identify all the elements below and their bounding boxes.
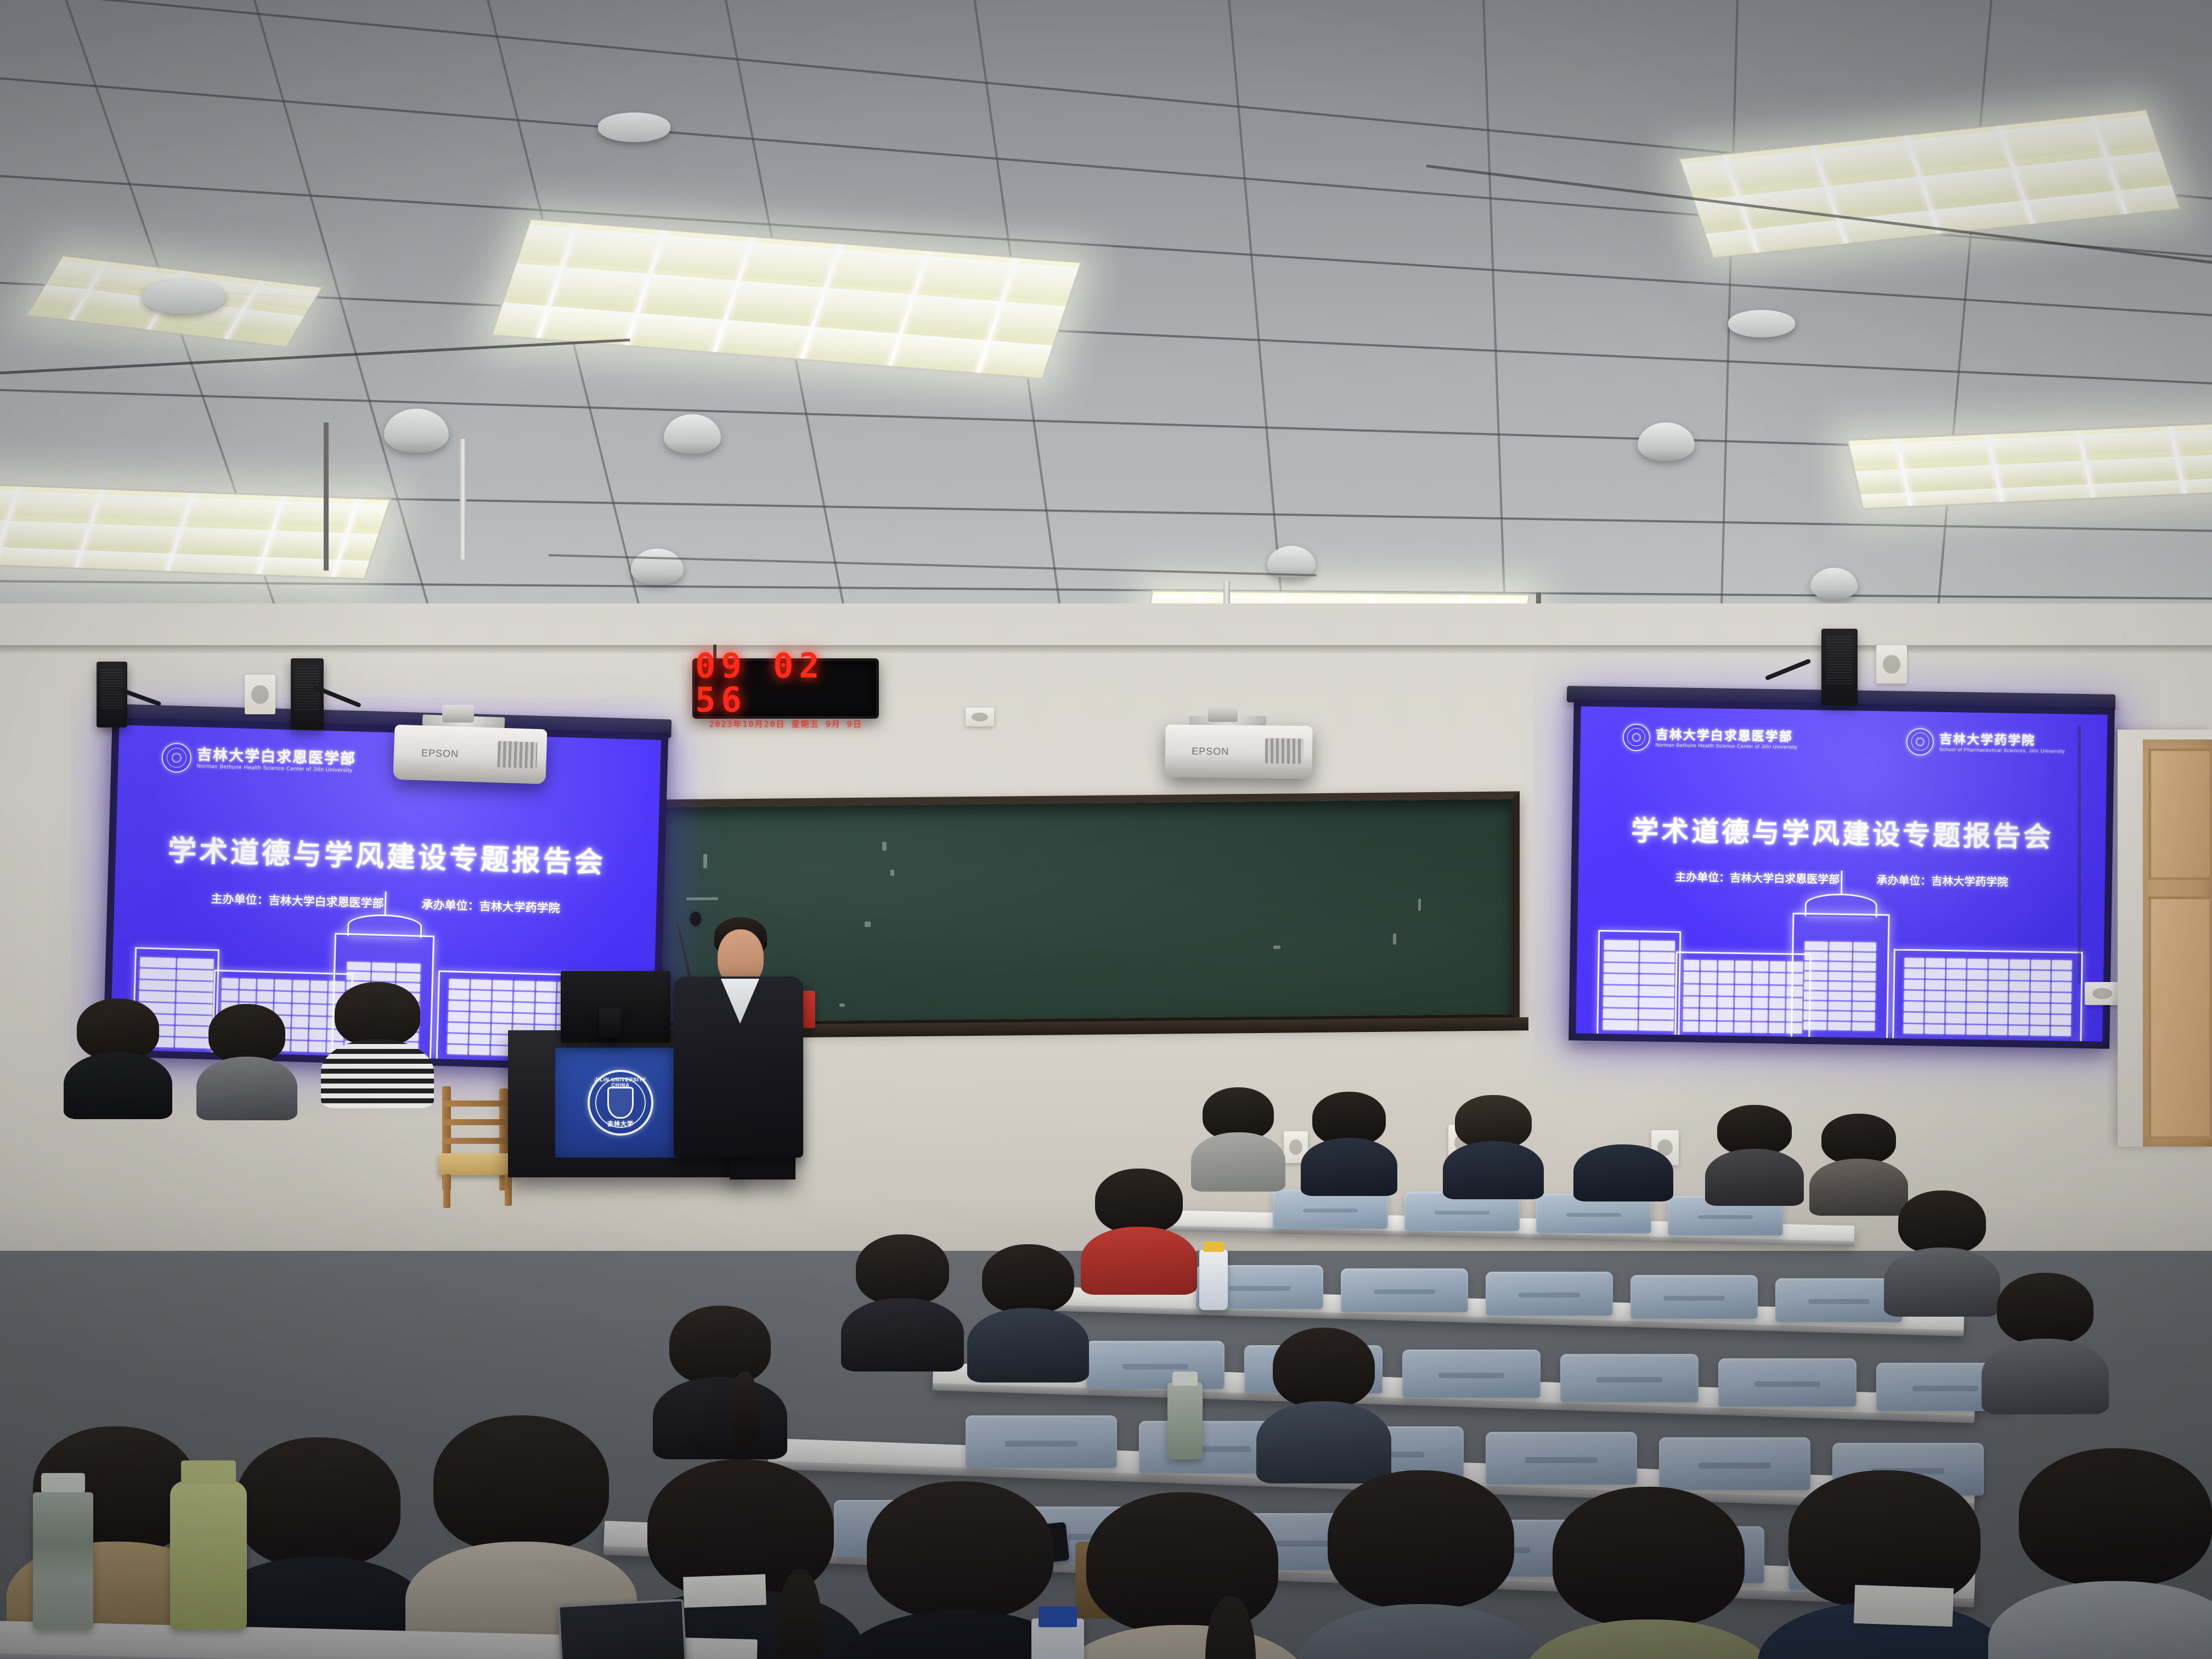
wall-outlet-plate [2085, 982, 2120, 1005]
smoke-detector [1728, 310, 1795, 337]
audience-member [236, 1437, 400, 1659]
slide-organizer: 主办单位：吉林大学白求恩医学部 [211, 890, 384, 911]
head [2019, 1448, 2212, 1585]
shoulders [1298, 1604, 1544, 1659]
jilin-bethune-seal-icon [161, 742, 191, 772]
slide-logo-bethune: 吉林大学白求恩医学部 Norman Bethune Health Science… [161, 742, 356, 777]
shoulders [196, 1057, 298, 1120]
audience-member [1312, 1092, 1386, 1196]
seat[interactable] [966, 1415, 1117, 1468]
audience-member [1095, 1169, 1183, 1295]
slide-logo-cn: 吉林大学药学院 [1939, 732, 2065, 748]
shoulders [1191, 1132, 1285, 1192]
lecture-hall-photo: 吉林大学白求恩医学部 Norman Bethune Health Science… [0, 0, 2212, 1659]
ceiling-speaker [384, 409, 449, 453]
audience-member [1788, 1470, 1980, 1659]
audience-member [1455, 1095, 1532, 1199]
slide-host: 承办单位：吉林大学药学院 [421, 896, 560, 916]
ponytail [730, 1372, 759, 1454]
head [1717, 1105, 1792, 1155]
bottle-cap [41, 1473, 84, 1492]
wall-outlet-plate [1876, 645, 1907, 684]
right-projection-screen[interactable]: 吉林大学白求恩医学部 Norman Bethune Health Science… [1568, 699, 2115, 1048]
water-bottle-blue-cap [1031, 1618, 1084, 1659]
audience-member [1553, 1487, 1745, 1659]
shoulders [1301, 1138, 1398, 1196]
audience-member [335, 982, 420, 1108]
projector-drop-rod [460, 439, 466, 560]
head [1997, 1273, 2093, 1344]
seat[interactable] [1341, 1268, 1468, 1312]
door-panel-upper [2148, 748, 2212, 880]
wall-speaker-right [1821, 629, 1858, 706]
ceiling-speaker [1638, 422, 1695, 461]
head [236, 1437, 400, 1567]
smoke-detector [143, 280, 225, 314]
head [77, 998, 159, 1060]
bottle-cap [1039, 1606, 1076, 1627]
water-bottle-white [1199, 1250, 1228, 1310]
wall-outlet-plate [245, 675, 275, 714]
shoulders [967, 1308, 1089, 1383]
head [1898, 1190, 1986, 1254]
jilin-bethune-seal-icon [1622, 723, 1650, 751]
ceiling-light-fixture [490, 218, 1082, 379]
shoulders [1809, 1159, 1908, 1216]
suspended-ceiling [0, 0, 2212, 675]
projector-bracket-right [1208, 706, 1238, 722]
seat[interactable] [1659, 1437, 1810, 1490]
slide-organizer: 主办单位：吉林大学白求恩医学部 [1675, 868, 1839, 887]
audience-member [77, 998, 159, 1119]
lectern-monitor-stand [599, 1008, 621, 1038]
projector-brand: EPSON [1192, 746, 1229, 758]
shoulders [1522, 1620, 1775, 1659]
slide-title: 学术道德与学风建设专题报告会 [115, 826, 658, 882]
jilin-pharmacy-seal-icon [1906, 728, 1934, 756]
head [335, 982, 420, 1046]
ceiling-speaker [631, 549, 684, 585]
audience-member [856, 1234, 949, 1372]
head [982, 1244, 1074, 1313]
audience-member [1717, 1105, 1792, 1206]
shoulders [1705, 1149, 1804, 1206]
projector-bracket-left [442, 705, 474, 723]
audience-member [1585, 1099, 1661, 1201]
audience-member [1898, 1190, 1986, 1317]
led-wall-clock: 09 02 56 2023年10月20日 星期五 9月 9日 [692, 658, 879, 719]
audience-member [208, 1004, 285, 1120]
slide-surface: 吉林大学白求恩医学部 Norman Bethune Health Science… [1576, 706, 2107, 1041]
thermos-tumbler [1167, 1383, 1203, 1459]
audience-member [1086, 1492, 1278, 1659]
shoulders [653, 1377, 787, 1459]
slide-logo-pharmacy: 吉林大学药学院 School of Pharmaceutical Science… [1906, 728, 2066, 758]
seat[interactable] [1775, 1278, 1903, 1322]
head [1585, 1099, 1661, 1151]
head [1095, 1169, 1183, 1233]
projector-brand: EPSON [421, 747, 459, 760]
head [208, 1004, 285, 1063]
ceiling-projector-left: EPSON [393, 725, 547, 785]
shoulders [1982, 1339, 2109, 1414]
audience-member [1273, 1328, 1375, 1483]
pendant-rod [324, 422, 329, 571]
head [1553, 1487, 1745, 1626]
slide-host: 承办单位：吉林大学药学院 [1876, 871, 2008, 889]
bottle-cap [181, 1460, 236, 1484]
seat[interactable] [1718, 1358, 1857, 1407]
audience-member [1821, 1114, 1896, 1216]
audience-member [2019, 1448, 2212, 1659]
entry-door[interactable] [2143, 740, 2212, 1147]
clock-date: 2023年10月20日 星期五 9月 9日 [709, 720, 862, 729]
ceiling-speaker [664, 414, 721, 454]
slide-logo-bethune: 吉林大学白求恩医学部 Norman Bethune Health Science… [1622, 723, 1797, 753]
seat[interactable] [1630, 1275, 1758, 1319]
notebook-paper [1854, 1585, 1954, 1627]
audience-member [1997, 1273, 2093, 1414]
ponytail [778, 1569, 822, 1659]
head [1273, 1328, 1375, 1408]
head [669, 1306, 771, 1385]
shoulders [841, 1298, 964, 1372]
tablet[interactable] [557, 1599, 688, 1659]
audience-member [867, 1481, 1053, 1659]
audience-member [982, 1244, 1074, 1383]
seat[interactable] [1402, 1350, 1541, 1398]
ceiling-speaker [1810, 568, 1858, 600]
slide-logo-cn: 吉林大学白求恩医学部 [1656, 727, 1798, 744]
wall-speaker-left [291, 658, 324, 730]
wall-speaker-left-outer [97, 662, 127, 727]
bottle-cap [1203, 1242, 1223, 1252]
ceiling-cable [0, 338, 630, 376]
seat[interactable] [1560, 1354, 1699, 1402]
slide-logo-en: School of Pharmaceutical Sciences, Jilin… [1939, 747, 2065, 754]
wall-cable [2078, 726, 2081, 984]
shoulders [1056, 1625, 1309, 1659]
head [867, 1481, 1053, 1618]
seal-top-text: JILIN UNIVERSITY CHINA [590, 1077, 651, 1088]
seat[interactable] [1486, 1272, 1613, 1316]
projector-vent [497, 741, 538, 769]
bottle-cap [1172, 1372, 1198, 1385]
audience-member [1203, 1087, 1274, 1192]
projector-vent [1265, 738, 1304, 764]
head [1821, 1114, 1896, 1164]
slide-title: 学术道德与学风建设专题报告会 [1579, 808, 2106, 855]
audience-member [1328, 1470, 1514, 1659]
ceiling-projector-right: EPSON [1165, 725, 1313, 779]
shoulders [64, 1052, 172, 1119]
wall-outlet-plate [966, 708, 994, 726]
shoulders [1988, 1581, 2212, 1659]
notebook-paper [683, 1574, 766, 1607]
slide-building-illustration [1597, 890, 2084, 1041]
door-panel-lower [2148, 896, 2212, 1139]
ceiling-light-fixture [0, 483, 392, 580]
thermos-tumbler [33, 1492, 93, 1629]
ceiling-light-fixture [1847, 422, 2212, 510]
shoulders [1884, 1248, 2000, 1317]
ceiling-light-fixture [1678, 109, 2182, 259]
shoulders [1443, 1141, 1544, 1199]
head [856, 1234, 949, 1305]
shoulders [1081, 1227, 1197, 1295]
clock-time: 09 02 56 [695, 649, 876, 717]
head [1086, 1492, 1278, 1633]
head [433, 1415, 609, 1551]
audience-member [669, 1306, 771, 1459]
seat[interactable] [1086, 1341, 1224, 1389]
audience-seating-area [0, 1108, 2212, 1659]
shoulders [321, 1039, 434, 1108]
shoulders [1573, 1144, 1673, 1201]
smoke-detector [598, 112, 670, 142]
water-bottle-cille [170, 1481, 247, 1629]
head [1328, 1470, 1514, 1609]
